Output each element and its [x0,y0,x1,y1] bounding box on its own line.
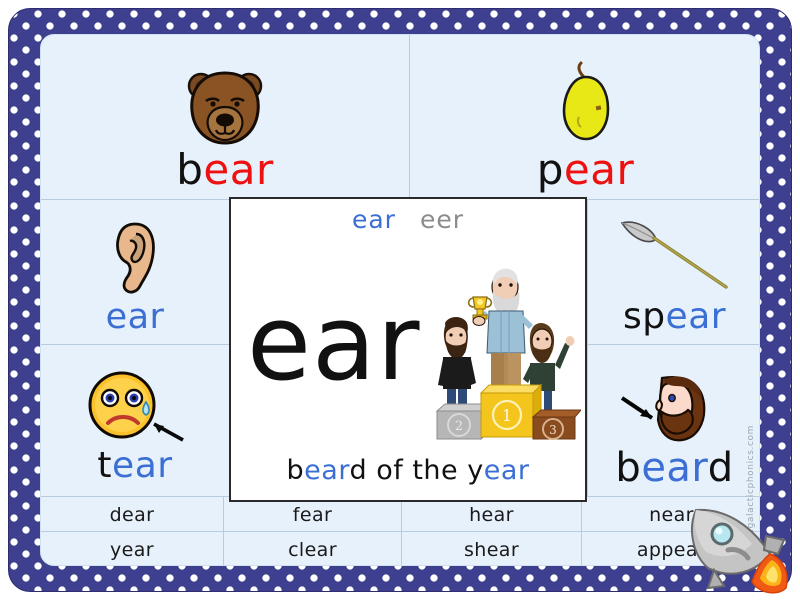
svg-text:3: 3 [549,423,557,437]
word-beard-suffix: d [708,445,734,491]
bear-head-icon [184,67,266,145]
word-cell-spear[interactable]: spear [588,201,760,343]
word-bear-prefix: b [176,145,203,194]
word-ear: ear [106,300,165,335]
word-pear-sound: ear [564,145,634,194]
word-tear-prefix: t [97,445,112,486]
big-grapheme: ear [247,291,420,395]
word-list-cell[interactable]: hear [402,497,581,532]
word-cell-beard[interactable]: beard [588,346,760,494]
word-pear-prefix: p [537,145,564,194]
word-spear-prefix: sp [623,296,666,337]
word-bear: bear [176,149,274,191]
phrase-w4-prefix: y [467,455,483,486]
word-list-cell[interactable]: dear [41,497,223,532]
rocket-icon [678,492,798,602]
crying-face-icon [80,368,190,442]
word-list-cell[interactable]: shear [402,532,581,566]
word-cell-pear[interactable]: pear [410,39,760,197]
phrase-w2: of [376,455,403,486]
phrase-w3: the [412,455,458,486]
word-cell-ear[interactable]: ear [41,201,229,343]
phrase-w1-suffix: d [349,455,367,486]
word-list-row-1: dear fear hear near [41,497,759,532]
word-bear-sound: ear [203,145,273,194]
word-list-cell[interactable]: clear [224,532,401,566]
word-cell-tear[interactable]: tear [41,346,229,494]
word-tear-sound: ear [112,445,173,486]
center-focus-card[interactable]: eareer ear [229,197,587,502]
word-spear-sound: ear [666,296,727,337]
word-cell-bear[interactable]: bear [41,39,409,197]
phrase-w4-sound: ear [484,455,530,486]
pear-fruit-icon [555,59,617,143]
poster-panel: bear pear [40,34,760,566]
poster-frame: bear pear [8,8,792,592]
word-pear: pear [537,149,635,191]
word-tear: tear [97,448,172,484]
beard-of-the-year-podium-icon: 2 1 3 [429,261,581,441]
word-spear: spear [623,299,726,335]
word-ear-sound: ear [106,297,165,337]
word-beard: beard [615,448,733,488]
bearded-man-icon [616,370,734,446]
svg-text:2: 2 [455,419,463,434]
human-ear-icon [110,220,160,296]
word-beard-prefix: b [615,445,641,491]
grapheme-alt: eer [420,205,464,234]
phrase-w1-prefix: b [287,455,305,486]
word-list-row-2: year clear shear appear [41,532,759,566]
word-beard-sound: ear [641,445,707,491]
svg-text:1: 1 [502,406,512,425]
grapheme-header: eareer [231,205,585,234]
example-phrase: beard of the year [231,455,585,486]
word-list-cell[interactable]: fear [224,497,401,532]
phrase-w1-sound: ear [304,455,349,486]
grapheme-primary: ear [352,205,396,234]
spear-weapon-icon [616,217,734,291]
word-list-cell[interactable]: year [41,532,223,566]
